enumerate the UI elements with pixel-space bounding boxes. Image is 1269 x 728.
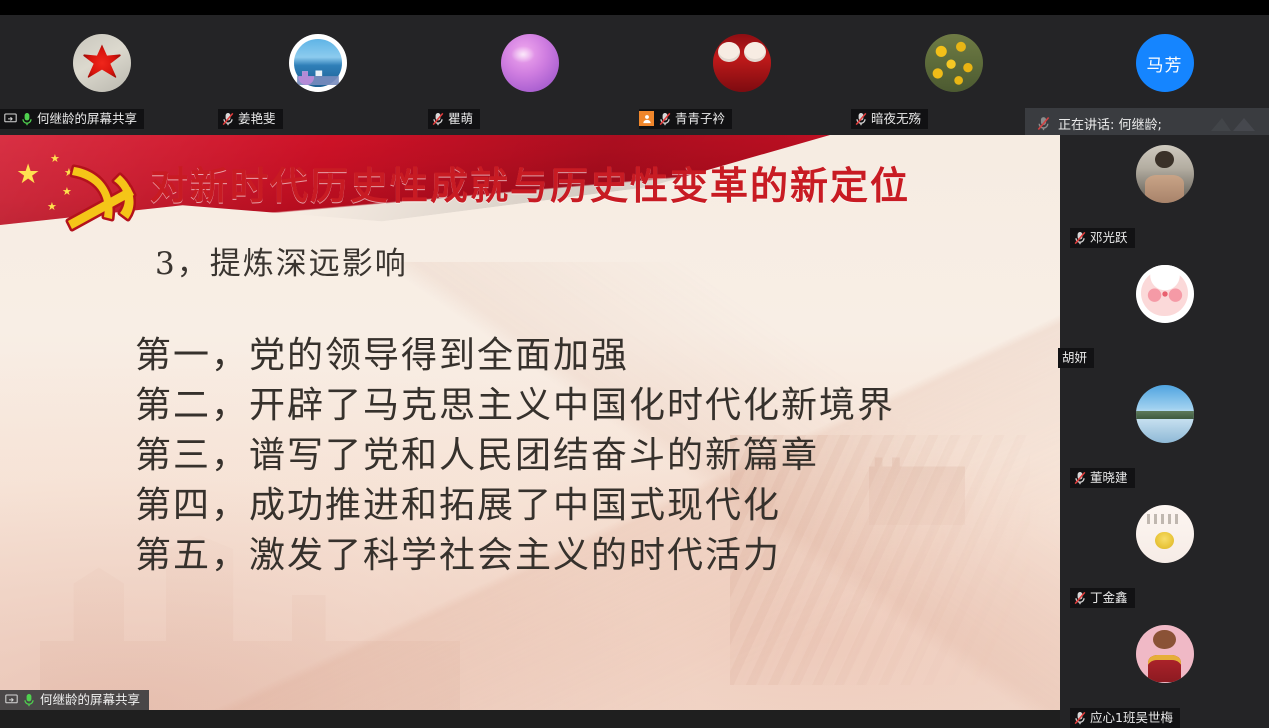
speaker-name-text: 正在讲话: 何继龄; <box>1058 114 1199 133</box>
avatar <box>73 34 131 92</box>
sidebar-participant[interactable]: 邓光跃 <box>1060 140 1269 260</box>
participant-label: 暗夜无殇 <box>851 109 928 129</box>
participant-name: 董晓建 <box>1090 470 1128 485</box>
microphone-unmuted-icon <box>23 693 35 707</box>
microphone-unmuted-icon <box>21 112 33 126</box>
participant-name: 应心1班吴世梅 <box>1090 710 1173 725</box>
screen-share-icon <box>5 693 18 706</box>
participant-label: 姜艳斐 <box>218 109 283 129</box>
slide-bullet-list: 第一，党的领导得到全面加强 第二，开辟了马克思主义中国化时代化新境界 第三，谱写… <box>135 331 1015 581</box>
filmstrip-tile[interactable]: 何继龄的屏幕共享 <box>0 15 212 135</box>
meeting-window: 何继龄的屏幕共享 姜艳斐 瞿萌 <box>0 0 1269 728</box>
sidebar-participant[interactable]: 丁金鑫 <box>1060 500 1269 620</box>
participant-label: 邓光跃 <box>1070 228 1135 248</box>
microphone-muted-icon <box>855 112 867 126</box>
share-owner-name: 何继龄的屏幕共享 <box>40 692 140 707</box>
microphone-muted-icon <box>1074 231 1086 245</box>
avatar-initials: 马芳 <box>1147 51 1183 76</box>
participant-name: 姜艳斐 <box>238 111 276 126</box>
sidebar-participant[interactable]: 胡妍 <box>1060 260 1269 380</box>
slide-title: 对新时代历史性成就与历史性变革的新定位 <box>150 162 1030 210</box>
avatar: 马芳 <box>1136 34 1194 92</box>
filmstrip-tile[interactable]: 瞿萌 <box>424 15 636 135</box>
avatar <box>925 34 983 92</box>
microphone-muted-icon <box>659 112 671 126</box>
participant-label: 青青子衿 <box>639 109 732 129</box>
slide-line: 第五，激发了科学社会主义的时代活力 <box>135 531 1015 581</box>
avatar <box>1136 265 1194 323</box>
filmstrip-tile[interactable]: 青青子衿 <box>636 15 848 135</box>
sidebar-participant[interactable]: 董晓建 <box>1060 380 1269 500</box>
slide-line: 第二，开辟了马克思主义中国化时代化新境界 <box>135 381 1015 431</box>
avatar <box>1136 385 1194 443</box>
microphone-muted-icon <box>222 112 234 126</box>
filmstrip-tile[interactable]: 姜艳斐 <box>212 15 424 135</box>
host-icon <box>639 111 654 126</box>
participant-name: 青青子衿 <box>675 111 725 126</box>
participant-name: 邓光跃 <box>1090 230 1128 245</box>
sidebar-participant[interactable]: 应心1班吴世梅 <box>1060 620 1269 728</box>
slide-line: 第一，党的领导得到全面加强 <box>135 331 1015 381</box>
avatar <box>1136 625 1194 683</box>
active-speaker-banner: 正在讲话: 何继龄; <box>1025 108 1269 138</box>
participant-name: 瞿萌 <box>448 111 473 126</box>
share-status-bar: 何继龄的屏幕共享 <box>0 692 1060 710</box>
star-icon: ★ <box>16 161 40 188</box>
participant-label: 丁金鑫 <box>1070 588 1135 608</box>
microphone-muted-icon <box>1074 591 1086 605</box>
slide-subtitle: 3，提炼深远影响 <box>155 243 408 285</box>
participant-label: 何继龄的屏幕共享 <box>0 109 144 129</box>
participant-label: 应心1班吴世梅 <box>1070 708 1180 728</box>
microphone-muted-icon <box>432 112 444 126</box>
participant-label: 胡妍 <box>1058 348 1094 368</box>
avatar <box>1136 145 1194 203</box>
cpc-emblem-icon <box>52 155 148 247</box>
microphone-muted-icon <box>1074 471 1086 485</box>
participant-name: 暗夜无殇 <box>871 111 921 126</box>
participant-label: 董晓建 <box>1070 468 1135 488</box>
screen-share-icon <box>4 112 17 125</box>
participant-label: 瞿萌 <box>428 109 480 129</box>
window-top-bar <box>0 0 1269 15</box>
shared-screen-content[interactable]: ★ ★ ★ ★ ★ 对新时代历史性成就与历史性变 <box>0 135 1060 710</box>
avatar <box>289 34 347 92</box>
microphone-muted-icon <box>1074 711 1086 725</box>
slide-line: 第四，成功推进和拓展了中国式现代化 <box>135 481 1015 531</box>
participant-name: 何继龄的屏幕共享 <box>37 111 137 126</box>
brand-watermark-icon <box>1207 113 1259 133</box>
slide-line: 第三，谱写了党和人民团结奋斗的新篇章 <box>135 431 1015 481</box>
participant-name: 丁金鑫 <box>1090 590 1128 605</box>
avatar <box>501 34 559 92</box>
share-status-chip: 何继龄的屏幕共享 <box>0 690 149 710</box>
participant-name: 胡妍 <box>1062 350 1087 365</box>
avatar <box>713 34 771 92</box>
avatar <box>1136 505 1194 563</box>
participant-sidebar[interactable]: 邓光跃 胡妍 董晓建 丁金鑫 <box>1060 135 1269 728</box>
microphone-muted-icon <box>1037 116 1050 131</box>
